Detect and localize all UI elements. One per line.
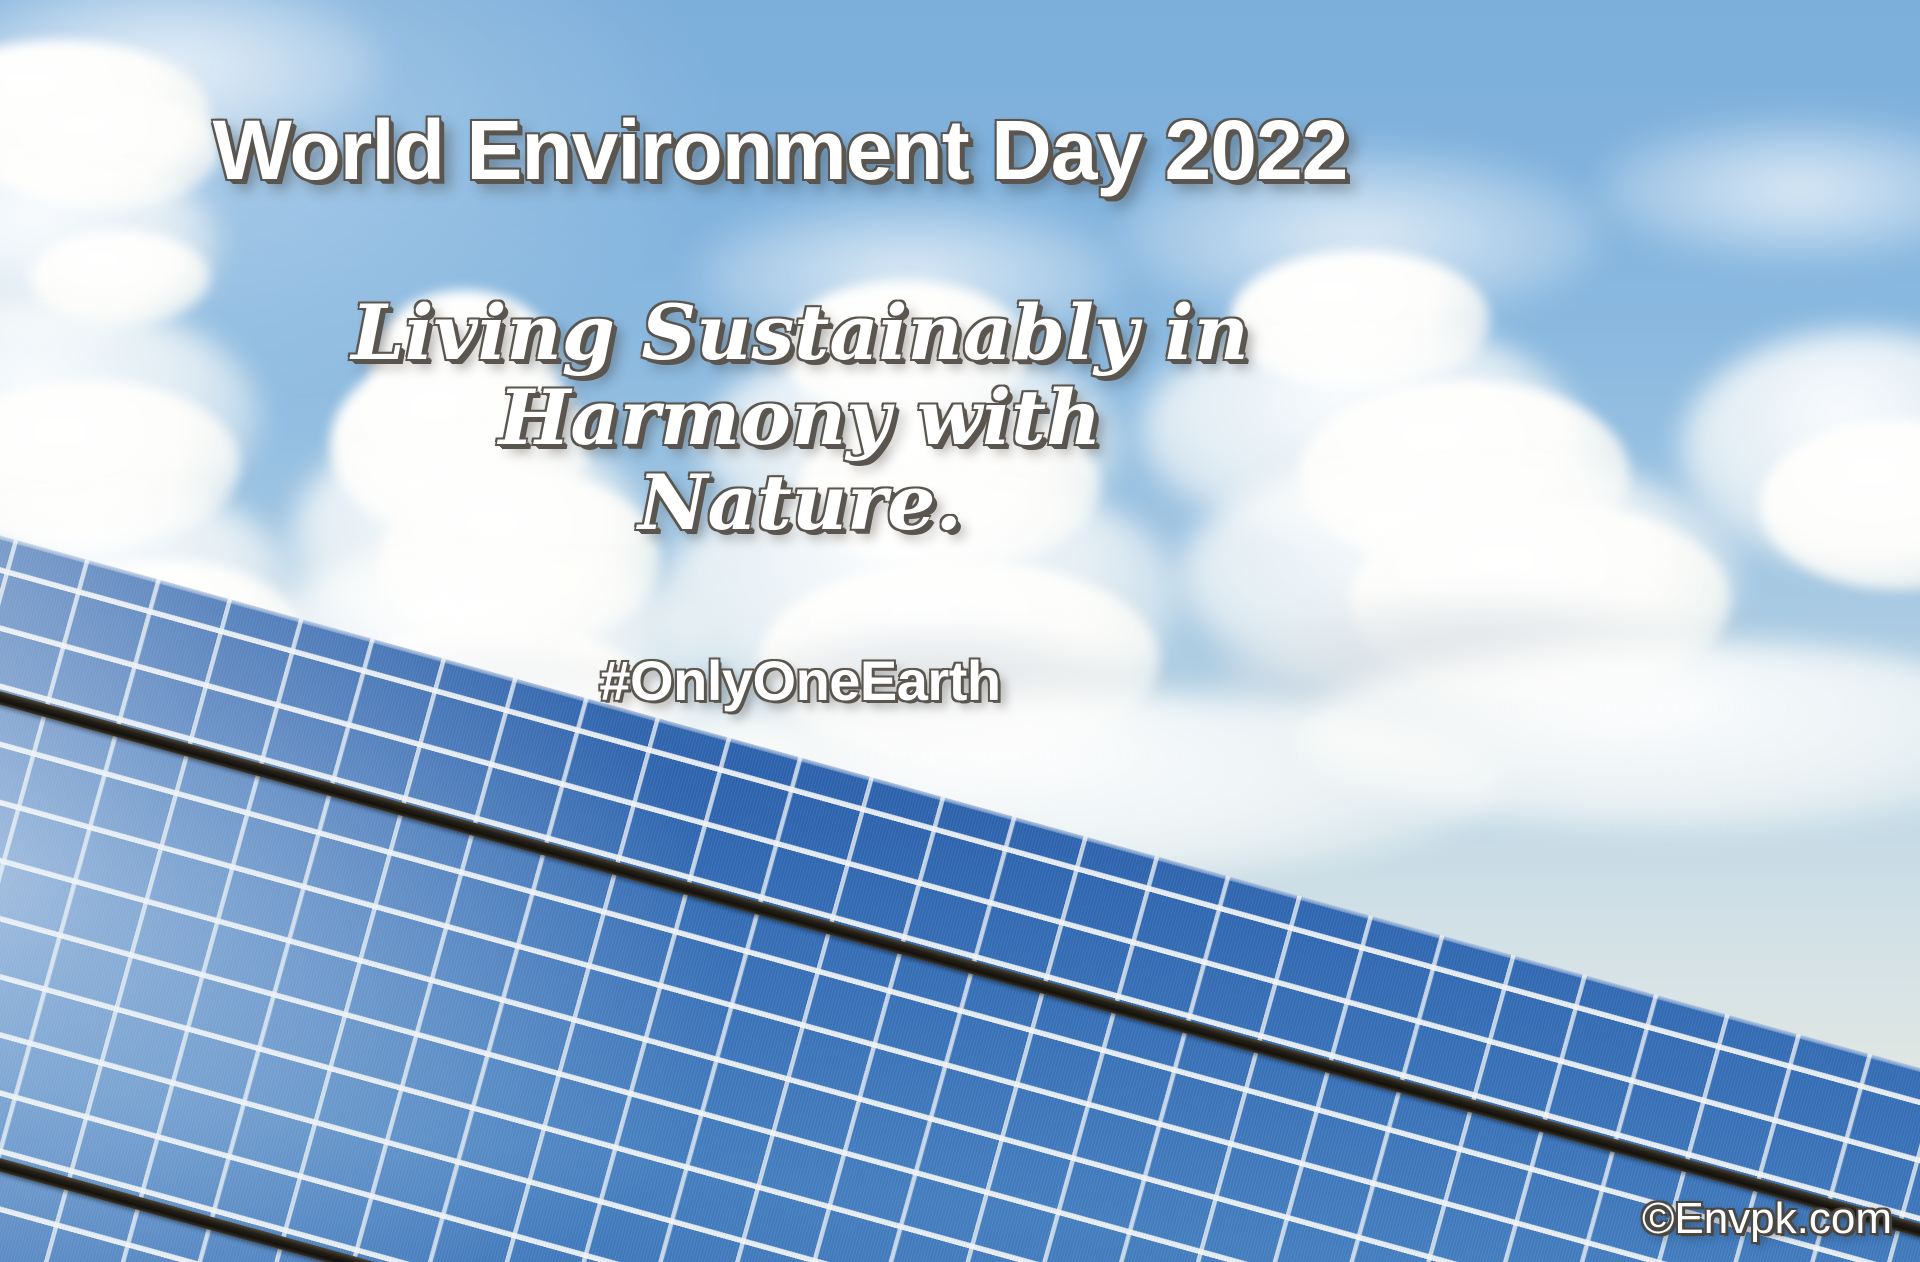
poster-subtitle-line-1: Living Sustainably in Harmony with [150, 290, 1450, 460]
poster-title: World Environment Day 2022 [0, 102, 1560, 199]
poster-subtitle-line-2: Nature. [150, 460, 1450, 545]
poster-subtitle: Living Sustainably in Harmony with Natur… [150, 290, 1450, 545]
poster-canvas: World Environment Day 2022 Living Sustai… [0, 0, 1920, 1262]
copyright-watermark: ©Envpk.com [1642, 1194, 1892, 1244]
poster-hashtag: #OnlyOneEarth [150, 648, 1450, 713]
text-overlay: World Environment Day 2022 Living Sustai… [0, 0, 1920, 1262]
